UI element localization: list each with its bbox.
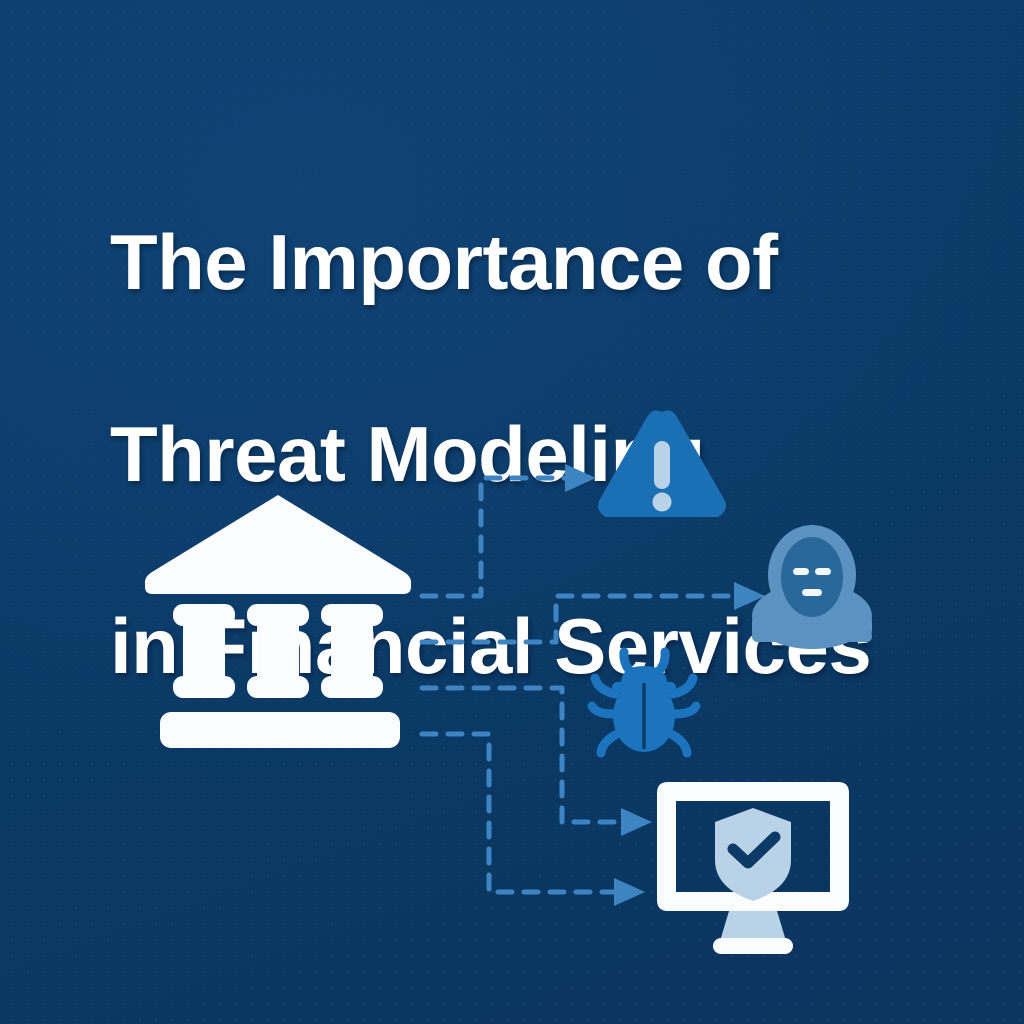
threat-model-diagram xyxy=(0,0,1024,1024)
warning-exclamation-bar xyxy=(654,441,670,489)
bug-icon xyxy=(592,652,696,753)
attacker-eye-left xyxy=(793,568,809,575)
attacker-face xyxy=(781,537,843,617)
monitor-stand-neck xyxy=(720,911,786,941)
poster-canvas: The Importance of Threat Modeling in Fin… xyxy=(0,0,1024,1024)
bug-body-split xyxy=(642,683,645,749)
warning-triangle-icon xyxy=(598,410,726,517)
attacker-eye-right xyxy=(815,568,831,575)
connector-bank-to-warning xyxy=(422,478,571,596)
warning-exclamation-dot xyxy=(653,493,672,512)
monitor-stand-base xyxy=(713,938,793,954)
attacker-mouth xyxy=(802,589,822,596)
monitor-shield-icon xyxy=(657,782,849,954)
bank-icon xyxy=(145,495,411,748)
hooded-attacker-icon xyxy=(752,525,872,649)
connector-bank-to-attacker xyxy=(422,596,740,642)
connector-bank-to-monitor-lower xyxy=(422,734,620,892)
